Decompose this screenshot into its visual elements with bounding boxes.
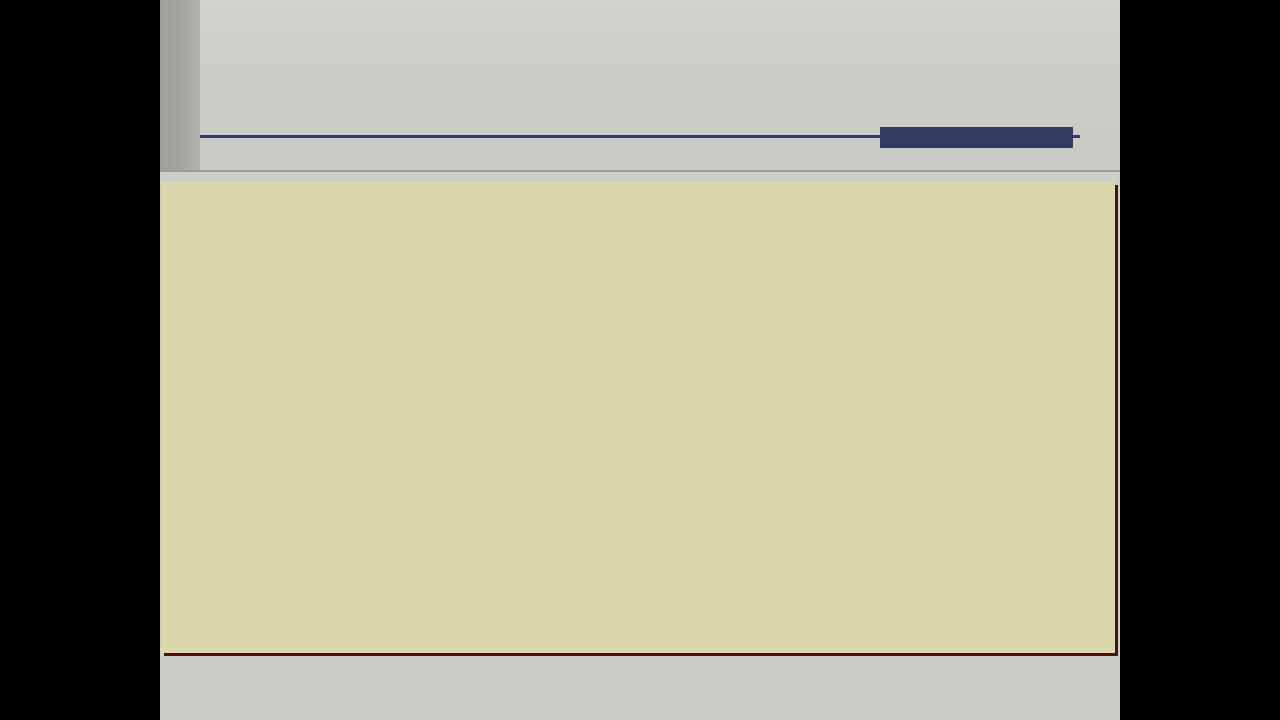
title-accent-bar [880,127,1073,148]
header-left-accent-strip [160,0,200,172]
header-bottom-edge [160,170,1120,172]
content-panel [161,182,1115,653]
presentation-slide [160,0,1120,720]
table-column-headers [161,194,1115,234]
slide-header-band [160,0,1120,172]
